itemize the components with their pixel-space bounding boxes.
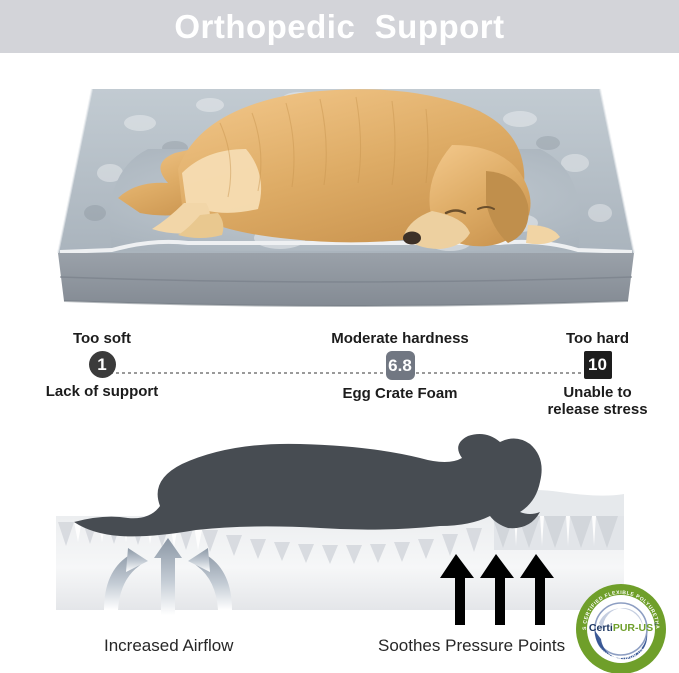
- hardness-scale: Too soft 1 Lack of support Moderate hard…: [0, 330, 679, 422]
- header-banner: Orthopedic Support: [0, 0, 679, 53]
- scale-badge-1: 1: [89, 351, 116, 378]
- dog-bed-photo-illustration: [0, 53, 679, 325]
- scale-stop-moderate: Moderate hardness 6.8 Egg Crate Foam: [315, 330, 485, 402]
- certipur-word-certi: Certi: [589, 622, 613, 634]
- scale-stop-bottom-label: Egg Crate Foam: [315, 385, 485, 402]
- caption-soothes-pressure-points: Soothes Pressure Points: [378, 636, 565, 656]
- product-infographic: Orthopedic Support: [0, 0, 679, 673]
- page-title: Orthopedic Support: [174, 8, 504, 46]
- svg-text:CertiPUR-US: CertiPUR-US: [589, 622, 653, 634]
- scale-stop-too-hard: Too hard 10 Unable to release stress: [520, 330, 675, 418]
- scale-stop-too-soft: Too soft 1 Lack of support: [22, 330, 182, 400]
- dog-silhouette: [74, 434, 542, 536]
- scale-badge-68: 6.8: [386, 351, 415, 380]
- certipur-us-badge: CONTAINS CERTIFIED FLEXIBLE POLYURETHANE…: [575, 583, 667, 673]
- scale-stop-top-label: Too soft: [22, 330, 182, 348]
- certipur-word-purus: PUR-US: [613, 622, 653, 634]
- scale-stop-top-label: Moderate hardness: [315, 330, 485, 348]
- pressure-arrows: [440, 554, 554, 625]
- scale-stop-bottom-label: Lack of support: [22, 383, 182, 400]
- product-photo: [0, 53, 679, 325]
- scale-badge-10: 10: [584, 351, 612, 379]
- scale-stop-bottom-label: Unable to release stress: [520, 384, 675, 418]
- caption-increased-airflow: Increased Airflow: [104, 636, 233, 656]
- scale-stop-top-label: Too hard: [520, 330, 675, 348]
